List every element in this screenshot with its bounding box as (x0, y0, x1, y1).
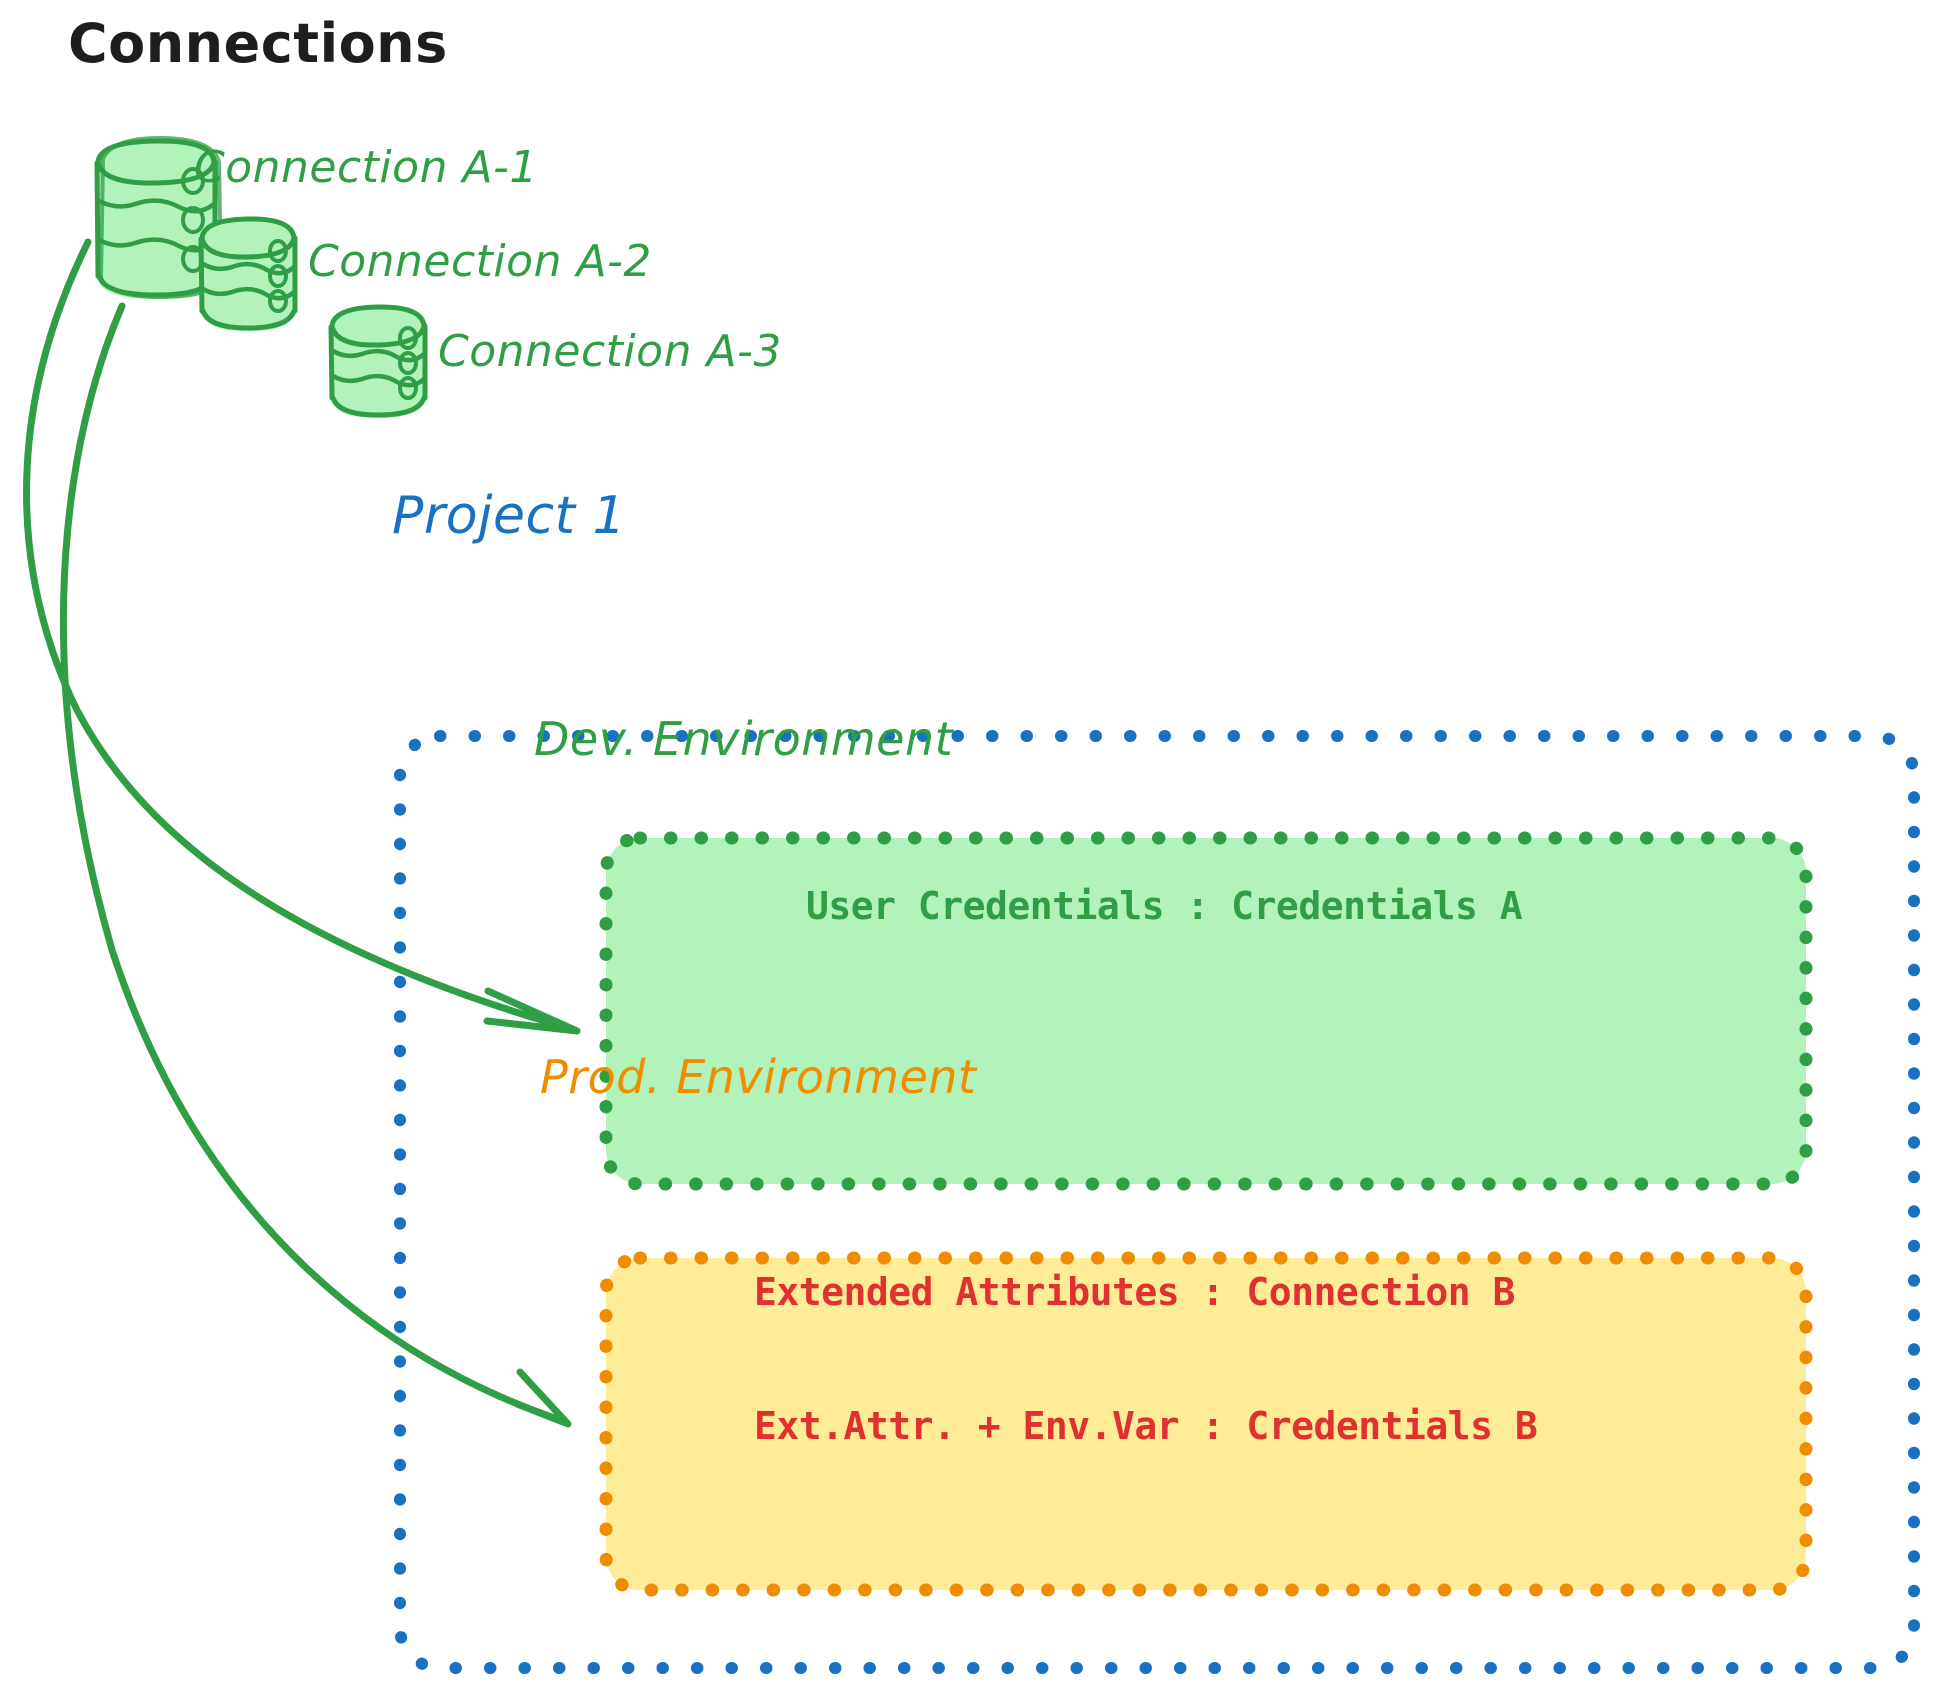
database-cylinder-icon-a2[interactable] (201, 218, 295, 331)
project-title: Project 1 (392, 486, 626, 547)
prod-environment-title: Prod. Environment (540, 1050, 976, 1104)
dev-environment-title: Dev. Environment (534, 712, 953, 766)
database-cylinder-icon-a3[interactable] (331, 306, 425, 418)
connection-label-a2: Connection A-2 (308, 236, 652, 288)
prod-environment-line-2: Ext.Attr. + Env.Var : Credentials B (754, 1404, 1537, 1449)
page-title: Connections (68, 12, 448, 76)
connection-label-a3: Connection A-3 (438, 326, 782, 378)
dev-environment-credentials-line: User Credentials : Credentials A (806, 884, 1522, 929)
arrow-connection-a1-to-prod (63, 306, 568, 1424)
connection-label-a1: Connection A-1 (194, 142, 538, 194)
prod-environment-line-1: Extended Attributes : Connection B (754, 1270, 1537, 1315)
prod-environment-lines: Extended Attributes : Connection B Ext.A… (754, 1180, 1537, 1494)
